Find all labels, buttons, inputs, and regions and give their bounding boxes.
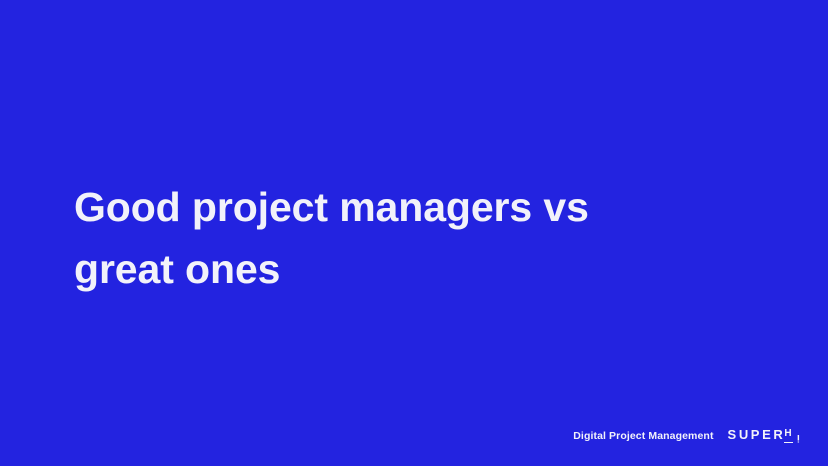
presentation-slide: Good project managers vs great ones Digi… (0, 0, 828, 466)
brand-mark-underline-icon (784, 442, 793, 444)
slide-title: Good project managers vs great ones (74, 176, 714, 300)
brand-mark-h-glyph: H (784, 429, 791, 439)
superhi-logo: SUPER H i (728, 428, 800, 444)
slide-footer: Digital Project Management SUPER H i (573, 428, 800, 444)
course-label: Digital Project Management (573, 431, 713, 442)
brand-mark-i-glyph: i (797, 432, 800, 442)
brand-wordmark: SUPER (728, 428, 786, 441)
brand-mark: H i (784, 424, 800, 440)
